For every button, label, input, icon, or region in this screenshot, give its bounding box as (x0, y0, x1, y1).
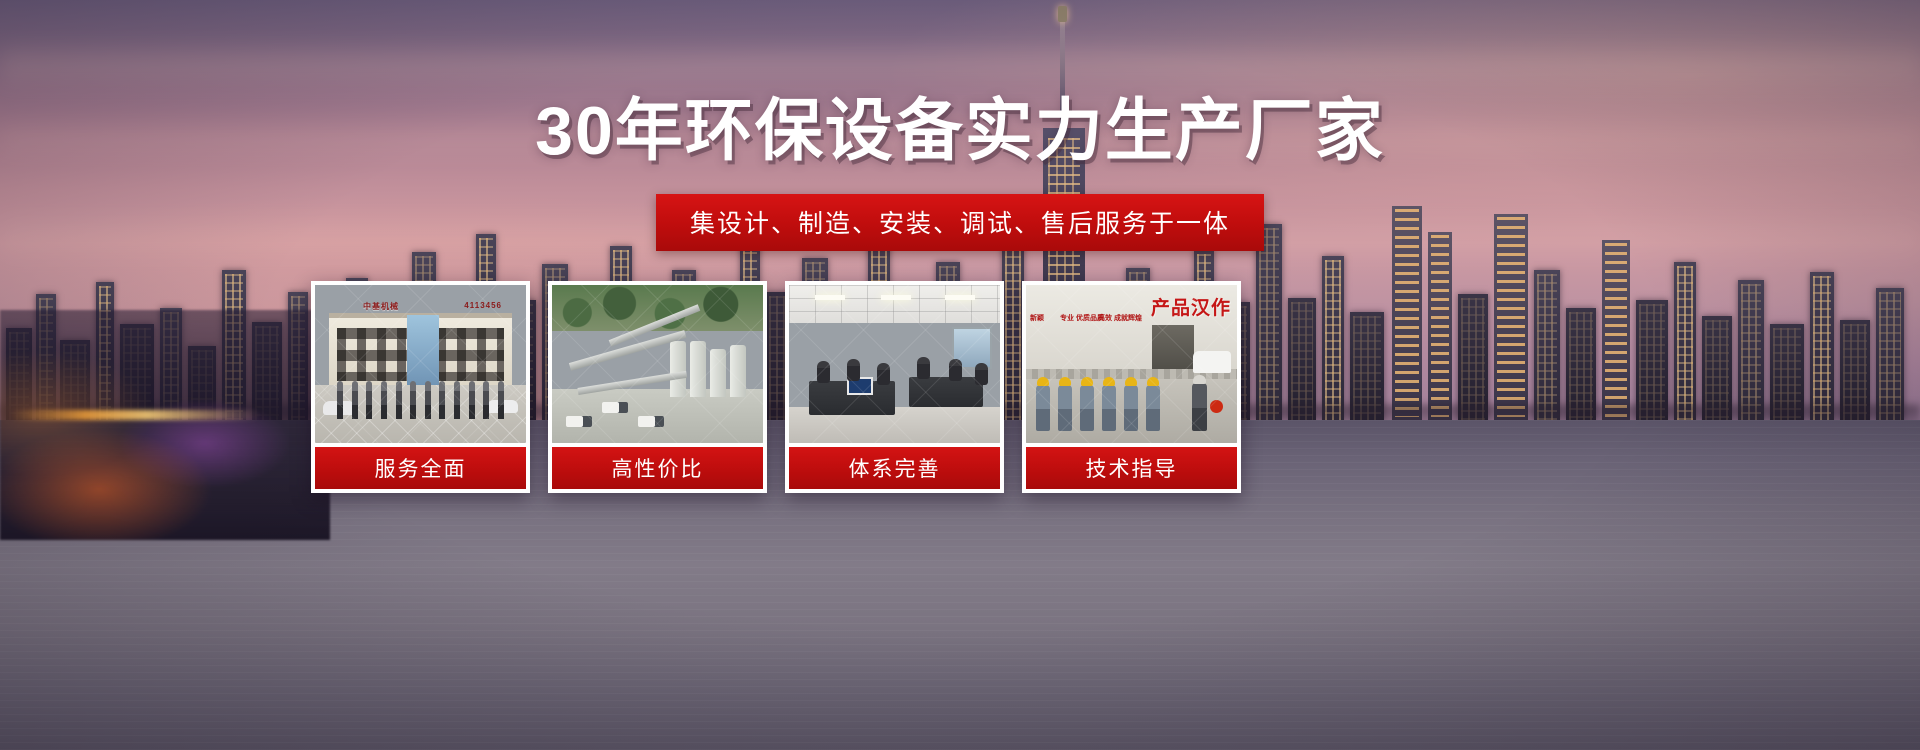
staff-lineup (337, 381, 504, 419)
office-worker (917, 357, 930, 379)
feature-card-caption: 体系完善 (789, 447, 1000, 489)
delivery-truck (602, 402, 628, 413)
office-interior-team-photo (789, 285, 1000, 443)
white-van (1193, 351, 1231, 373)
feature-card[interactable]: 产品汉作 新颖 专业 优质品质 高效 成就辉煌 技术指导 (1022, 281, 1241, 493)
storage-silo (730, 345, 746, 397)
building-sign-text: 中基机械 (363, 301, 399, 312)
factory-worker (1102, 385, 1116, 431)
factory-worker (1146, 385, 1160, 431)
ceiling-light (945, 295, 975, 300)
tower-spire-light (1058, 6, 1067, 22)
office-worker (975, 363, 988, 385)
feature-card[interactable]: 高性价比 (548, 281, 767, 493)
feature-card[interactable]: 体系完善 (785, 281, 1004, 493)
office-worker (877, 363, 890, 385)
delivery-truck (638, 416, 664, 427)
subtitle-banner: 集设计、制造、安装、调试、售后服务于一体 (656, 194, 1264, 251)
lit-bridge (10, 410, 260, 420)
feature-card-strip: 中基机械 4113456 服务全面 (311, 281, 1241, 493)
storage-silo (690, 341, 706, 397)
office-ceiling (789, 285, 1000, 323)
factory-worker (1124, 385, 1138, 431)
wall-slogan-text: 新颖 (1030, 315, 1044, 324)
storage-silo (710, 349, 726, 397)
building-glass-atrium (407, 315, 439, 387)
page-title: 30年环保设备实力生产厂家 (0, 97, 1920, 165)
company-office-building-photo: 中基机械 4113456 (315, 285, 526, 443)
office-desk (909, 377, 983, 407)
feature-card-caption: 高性价比 (552, 447, 763, 489)
subtitle-banner-wrap: 集设计、制造、安装、调试、售后服务于一体 (0, 194, 1920, 251)
supervisor (1192, 383, 1207, 431)
factory-worker (1036, 385, 1050, 431)
ceiling-light (815, 295, 845, 300)
feature-card-caption: 服务全面 (315, 447, 526, 489)
hero-banner: 30年环保设备实力生产厂家 集设计、制造、安装、调试、售后服务于一体 中基机械 … (0, 0, 1920, 750)
office-worker (817, 361, 830, 383)
office-worker (949, 359, 962, 381)
feature-card[interactable]: 中基机械 4113456 服务全面 (311, 281, 530, 493)
illuminated-park-foreground (0, 310, 330, 540)
delivery-truck (566, 416, 592, 427)
red-helmet (1210, 400, 1223, 413)
office-worker (847, 359, 860, 381)
storage-silo (670, 341, 686, 397)
factory-worker (1058, 385, 1072, 431)
building-phone-text: 4113456 (464, 301, 502, 310)
feature-card-caption: 技术指导 (1026, 447, 1237, 489)
factory-workshop-workers-photo: 产品汉作 新颖 专业 优质品质 高效 成就辉煌 (1026, 285, 1237, 443)
cloud-band (0, 40, 1920, 92)
wall-banner-text: 产品汉作 (1151, 293, 1231, 320)
wall-slogan-text: 高效 成就辉煌 (1098, 315, 1142, 324)
aerial-production-plant-photo (552, 285, 763, 443)
ceiling-light (881, 295, 911, 300)
factory-worker (1080, 385, 1094, 431)
